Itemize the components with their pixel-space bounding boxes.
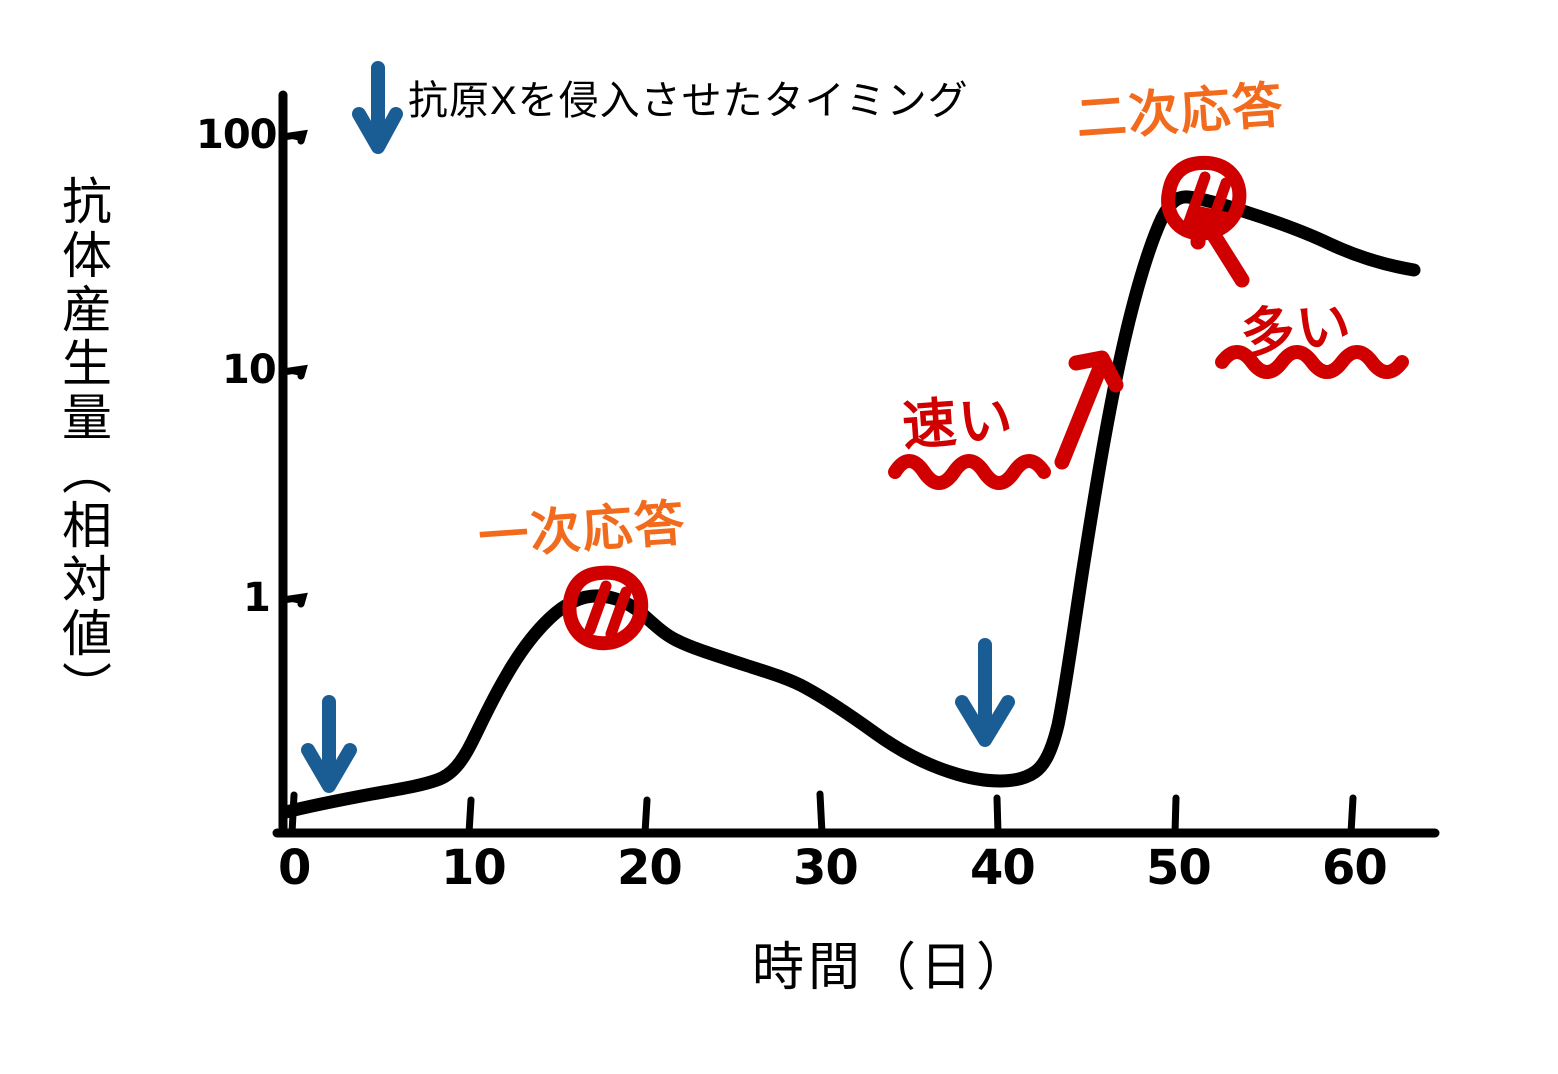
fast-label: 速い	[899, 374, 1016, 461]
x-tick-label-10: 10	[441, 840, 506, 896]
y-axis-title: 抗体産生量（相対値）	[58, 175, 108, 815]
fast-label-underline	[895, 461, 1044, 483]
x-axis-ticks	[292, 794, 1353, 833]
legend-label: 抗原Xを侵入させたタイミング	[408, 68, 969, 126]
x-axis-title: 時間（日）	[752, 925, 1032, 1000]
legend-arrow-icon	[359, 68, 396, 147]
antigen-injection-arrow-1	[308, 702, 350, 786]
antigen-injection-arrow-2	[962, 645, 1008, 740]
many-label: 多い	[1236, 279, 1356, 369]
x-tick-label-0: 0	[278, 840, 310, 896]
chart-canvas: 100 10 1 0 10 20 30 40 50 60 抗体産生量（相対値） …	[0, 0, 1558, 1074]
y-tick-label-1: 1	[243, 575, 270, 621]
x-tick-label-20: 20	[617, 840, 682, 896]
y-tick-label-10: 10	[222, 347, 276, 393]
chart-figure	[0, 0, 1558, 1074]
y-tick-label-100: 100	[196, 112, 277, 158]
secondary-response-label: 二次応答	[1074, 65, 1287, 151]
x-tick-label-30: 30	[793, 840, 858, 896]
primary-response-label: 一次応答	[476, 483, 689, 569]
x-tick-label-40: 40	[970, 840, 1035, 896]
x-tick-label-60: 60	[1322, 840, 1387, 896]
x-tick-label-50: 50	[1146, 840, 1211, 896]
many-pointer-arrow	[1198, 214, 1242, 280]
